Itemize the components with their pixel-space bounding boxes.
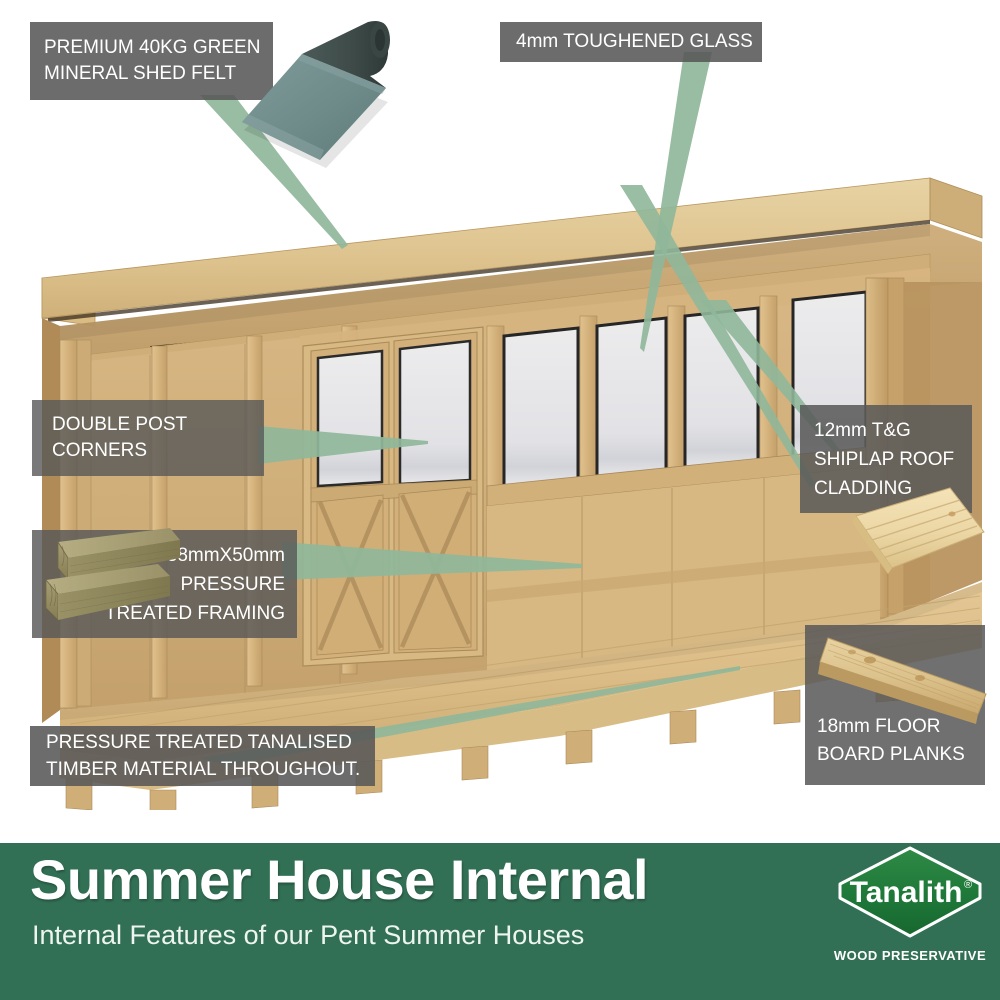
callout-line: PRESSURE [180,570,285,599]
banner-title: Summer House Internal [30,852,648,908]
callout-line: 4mm TOUGHENED GLASS [516,22,762,62]
logo-brand-text: Tanalith [850,876,963,909]
callout-toughened-glass[interactable]: 4mm TOUGHENED GLASS [500,22,762,62]
callout-tanalised-timber[interactable]: PRESSURE TREATED TANALISED TIMBER MATERI… [30,726,375,786]
callout-line: CORNERS [52,438,264,464]
infographic-canvas: PREMIUM 40KG GREEN MINERAL SHED FELT 4mm… [0,0,1000,1000]
callout-line: PRESSURE TREATED TANALISED [46,729,375,756]
pointer-double-post [258,408,458,498]
callout-line: 12mm T&G [814,416,972,445]
pointer-framing [282,528,602,618]
top-edge-divider [0,0,1000,4]
banner-subtitle: Internal Features of our Pent Summer Hou… [32,922,584,949]
callout-double-post-corners[interactable]: DOUBLE POST CORNERS [32,400,264,476]
tanalith-logo: Tanalith ® WOOD PRESERVATIVE [828,844,993,974]
banner-top-divider [0,838,1000,843]
shed-felt-roll-sample [228,18,398,178]
framing-timber-sample [38,524,188,644]
callout-line: DOUBLE POST [52,412,264,438]
logo-tagline: WOOD PRESERVATIVE [834,948,986,963]
callout-line: TIMBER MATERIAL THROUGHOUT. [46,756,375,783]
floor-board-plank-sample [810,628,1000,748]
logo-registered-mark: ® [964,879,972,891]
callout-line: SHIPLAP ROOF [814,445,972,474]
shiplap-board-sample [852,482,992,592]
bottom-banner: Summer House Internal Internal Features … [0,838,1000,1000]
